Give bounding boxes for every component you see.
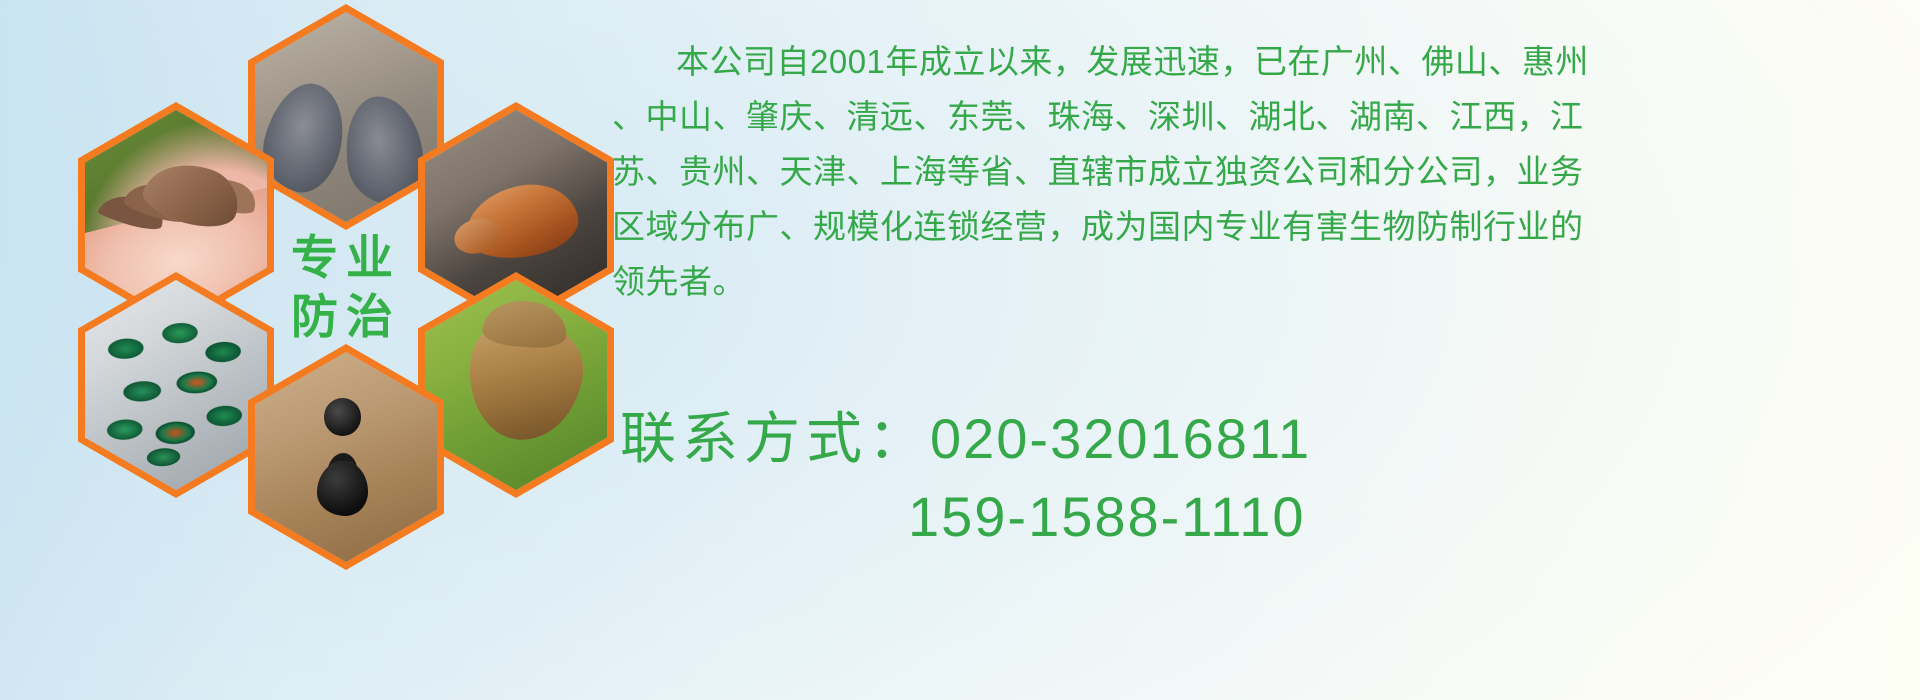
intro-line-1: 本公司自2001年成立以来，发展迅速，已在广州、佛山、惠州: [612, 34, 1900, 89]
intro-line-2: 、中山、肇庆、清远、东莞、珠海、深圳、湖北、湖南、江西，江: [612, 89, 1900, 144]
hex-cell-slogan: 专业 防治: [248, 174, 444, 400]
intro-line-3-text: 苏、贵州、天津、上海等省、直辖市成立独资公司和分公司，业务: [612, 153, 1584, 190]
hex-cell-flies: [78, 272, 274, 498]
slogan-line-1: 专业: [291, 233, 401, 282]
intro-line-4: 区域分布广、规模化连锁经营，成为国内专业有害生物防制行业的: [612, 199, 1900, 254]
intro-line-1-text: 本公司自2001年成立以来，发展迅速，已在广州、佛山、惠州: [676, 43, 1589, 80]
phone-secondary[interactable]: 159-1588-1110: [908, 485, 1306, 548]
intro-line-5-text: 领先者。: [612, 263, 746, 300]
intro-line-4-text: 区域分布广、规模化连锁经营，成为国内专业有害生物防制行业的: [612, 208, 1584, 245]
slogan-text: 专业 防治: [255, 182, 437, 392]
contact-block: 联系方式：020-32016811 159-1588-1110: [620, 400, 1311, 556]
intro-line-5: 领先者。: [612, 254, 1900, 309]
hex-cell-stink-bug: [418, 272, 614, 498]
contact-secondary-line: 159-1588-1110: [620, 478, 1311, 556]
contact-primary-line: 联系方式：020-32016811: [620, 400, 1311, 478]
flies-photo: [85, 280, 267, 490]
contact-label: 联系方式：: [620, 407, 930, 470]
promo-banner: 专业 防治 本公司自2001年成立以来，发展迅速，已在广州、佛山、惠州 、中山、…: [0, 0, 1920, 700]
stink-bug-photo: [425, 280, 607, 490]
slogan-line-2: 防治: [291, 292, 401, 341]
intro-line-2-text: 、中山、肇庆、清远、东莞、珠海、深圳、湖北、湖南、江西，江: [612, 98, 1584, 135]
honeycomb-cluster: 专业 防治: [78, 0, 598, 550]
intro-paragraph: 本公司自2001年成立以来，发展迅速，已在广州、佛山、惠州 、中山、肇庆、清远、…: [612, 34, 1900, 309]
phone-primary[interactable]: 020-32016811: [930, 407, 1311, 470]
intro-line-3: 苏、贵州、天津、上海等省、直辖市成立独资公司和分公司，业务: [612, 144, 1900, 199]
